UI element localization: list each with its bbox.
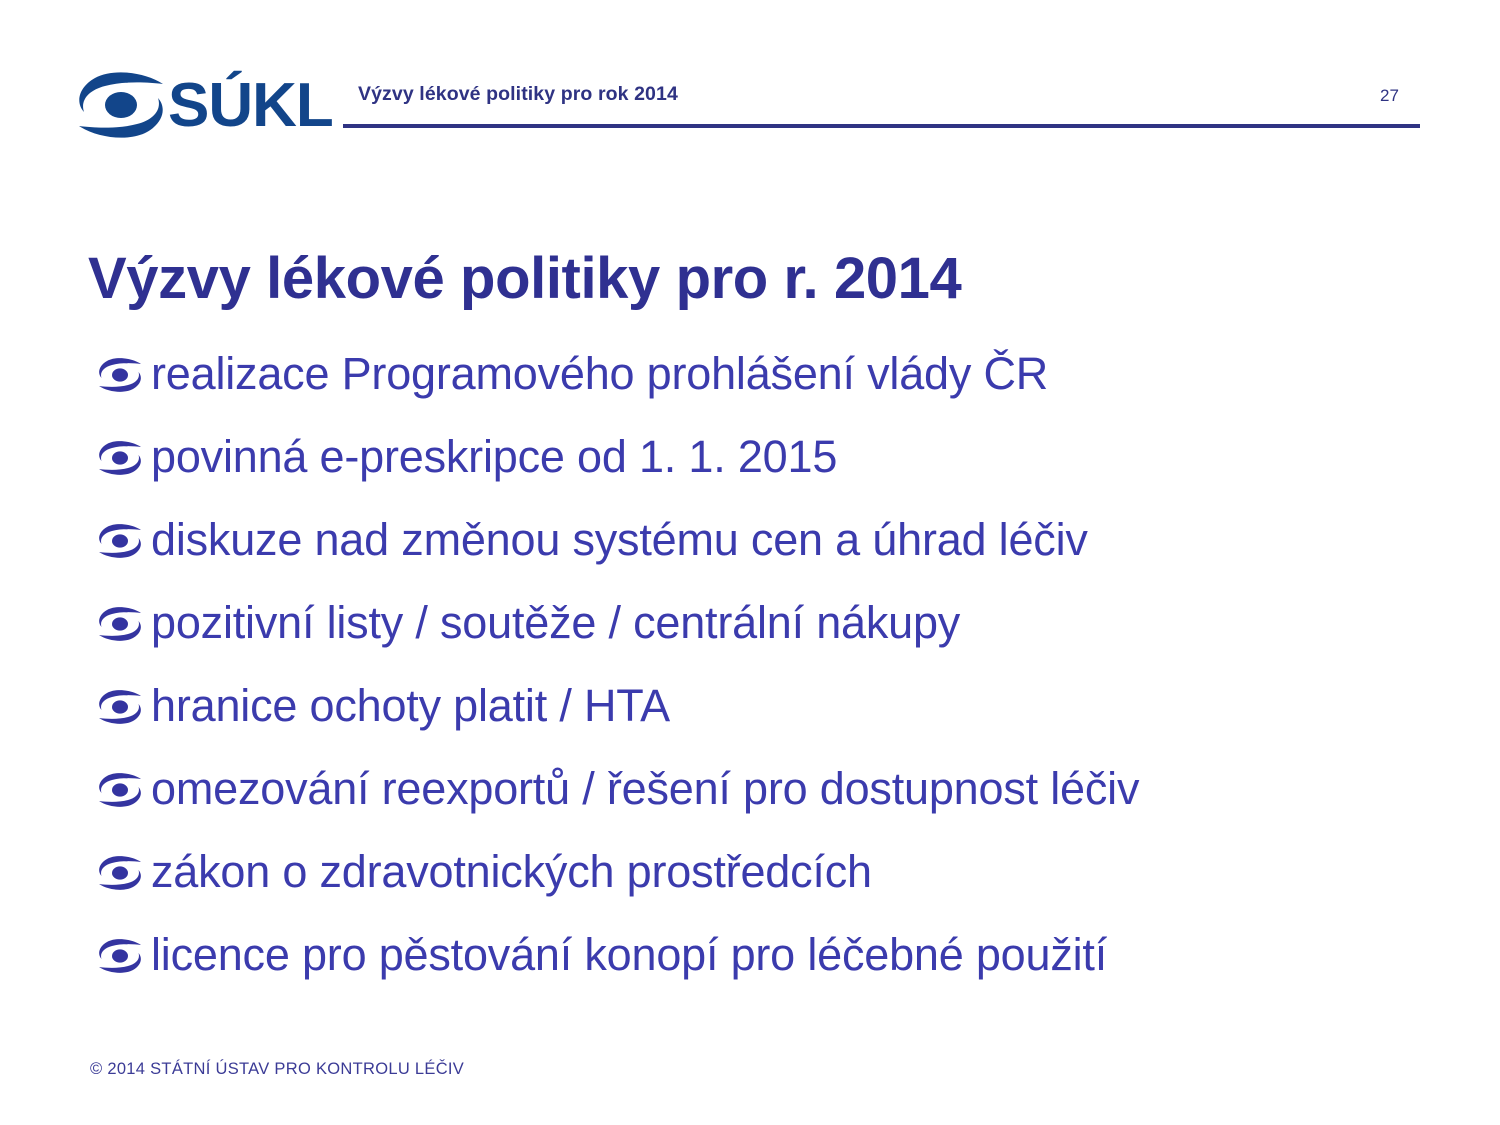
sukl-eye-bullet-icon bbox=[97, 523, 143, 559]
header-divider bbox=[343, 124, 1420, 128]
sukl-eye-bullet-icon bbox=[97, 357, 143, 393]
sukl-eye-bullet-icon bbox=[97, 938, 143, 974]
bullet-item: realizace Programového prohlášení vlády … bbox=[97, 332, 1427, 415]
sukl-wordmark: SÚKL bbox=[168, 70, 328, 140]
sukl-eye-bullet-icon bbox=[97, 855, 143, 891]
bullet-item: povinná e-preskripce od 1. 1. 2015 bbox=[97, 415, 1427, 498]
sukl-eye-bullet-icon bbox=[97, 440, 143, 476]
sukl-eye-bullet-icon bbox=[97, 772, 143, 808]
bullet-item-label: hranice ochoty platit / HTA bbox=[151, 680, 670, 732]
bullet-item: omezování reexportů / řešení pro dostupn… bbox=[97, 747, 1427, 830]
bullet-item: hranice ochoty platit / HTA bbox=[97, 664, 1427, 747]
slide-header: SÚKL Výzvy lékové politiky pro rok 2014 … bbox=[0, 0, 1500, 150]
bullet-list: realizace Programového prohlášení vlády … bbox=[97, 332, 1427, 996]
bullet-item: pozitivní listy / soutěže / centrální ná… bbox=[97, 581, 1427, 664]
bullet-item: zákon o zdravotnických prostředcích bbox=[97, 830, 1427, 913]
bullet-item-label: omezování reexportů / řešení pro dostupn… bbox=[151, 763, 1139, 815]
sukl-eye-logo-icon bbox=[75, 70, 167, 140]
bullet-item-label: pozitivní listy / soutěže / centrální ná… bbox=[151, 597, 960, 649]
sukl-eye-bullet-icon bbox=[97, 606, 143, 642]
slide-title: Výzvy lékové politiky pro r. 2014 bbox=[88, 245, 961, 312]
page-number: 27 bbox=[1380, 86, 1424, 106]
header-running-title: Výzvy lékové politiky pro rok 2014 bbox=[358, 83, 678, 106]
bullet-item: diskuze nad změnou systému cen a úhrad l… bbox=[97, 498, 1427, 581]
sukl-eye-bullet-icon bbox=[97, 689, 143, 725]
bullet-item: licence pro pěstování konopí pro léčebné… bbox=[97, 913, 1427, 996]
bullet-item-label: licence pro pěstování konopí pro léčebné… bbox=[151, 929, 1107, 981]
bullet-item-label: povinná e-preskripce od 1. 1. 2015 bbox=[151, 431, 837, 483]
footer-copyright: © 2014 STÁTNÍ ÚSTAV PRO KONTROLU LÉČIV bbox=[90, 1060, 464, 1079]
bullet-item-label: zákon o zdravotnických prostředcích bbox=[151, 846, 872, 898]
bullet-item-label: diskuze nad změnou systému cen a úhrad l… bbox=[151, 514, 1088, 566]
bullet-item-label: realizace Programového prohlášení vlády … bbox=[151, 348, 1048, 400]
